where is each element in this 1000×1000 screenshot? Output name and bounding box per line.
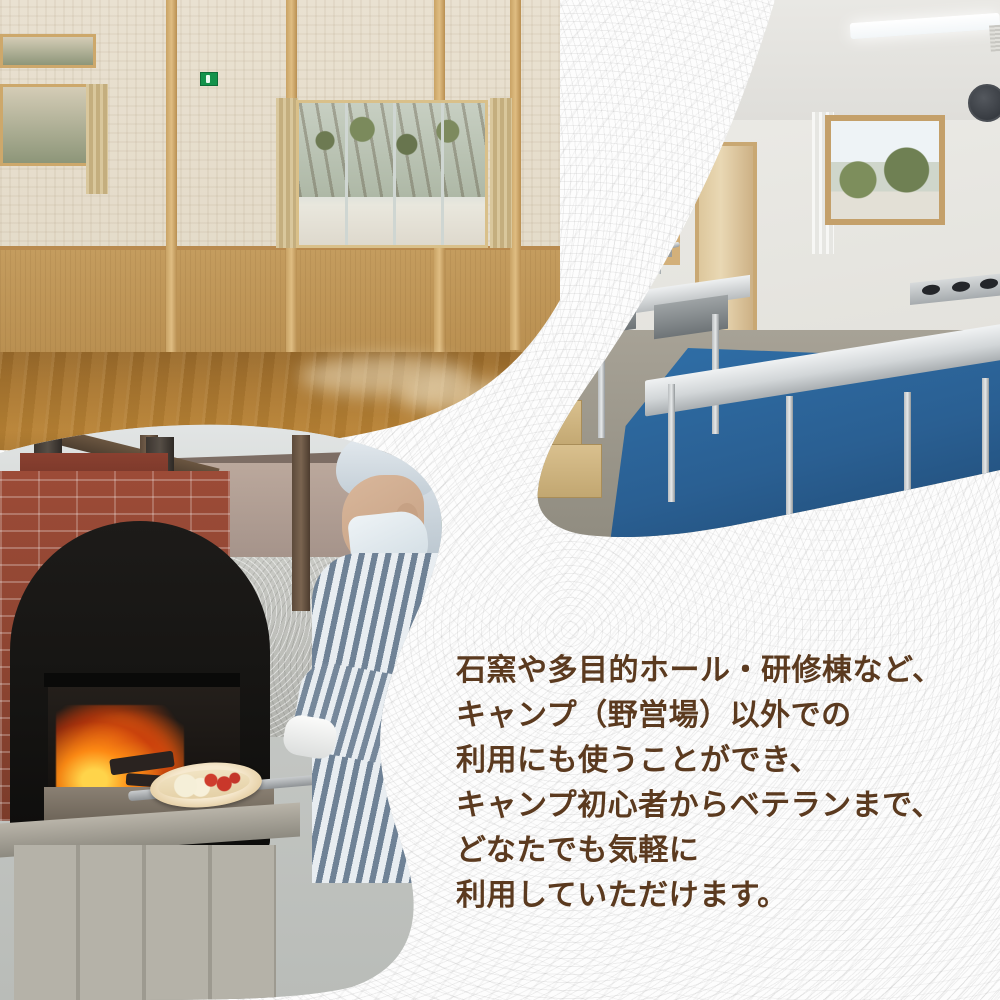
hall-door-curtain-left bbox=[276, 98, 298, 248]
caption-line: 利用にも使うことができ、 bbox=[456, 738, 986, 783]
caption-text-block: 石窯や多目的ホール・研修棟など、 キャンプ（野営場）以外での 利用にも使うことが… bbox=[456, 648, 986, 918]
caption-line: どなたでも気軽に bbox=[456, 828, 986, 873]
hall-post bbox=[166, 0, 177, 356]
door-mullion bbox=[345, 103, 348, 245]
stove-burner bbox=[922, 284, 940, 296]
emergency-exit-sign-icon bbox=[200, 72, 218, 86]
caption-line: 利用していただけます。 bbox=[456, 873, 986, 918]
stove-burner bbox=[980, 278, 998, 290]
ceiling-vent bbox=[989, 22, 1000, 51]
door-mullion bbox=[393, 103, 396, 245]
collage-canvas: 石窯や多目的ホール・研修棟など、 キャンプ（野営場）以外での 利用にも使うことが… bbox=[0, 0, 1000, 1000]
caption-line: 石窯や多目的ホール・研修棟など、 bbox=[456, 648, 986, 693]
hall-sliding-glass-door bbox=[296, 100, 488, 248]
door-mullion bbox=[441, 103, 444, 245]
prep-table-leg bbox=[668, 384, 675, 502]
door-outdoor-view bbox=[299, 103, 485, 197]
hall-transom-window bbox=[0, 34, 96, 68]
hall-door-curtain-right bbox=[490, 98, 512, 248]
oven-lintel bbox=[44, 673, 240, 687]
prep-table-leg bbox=[786, 396, 793, 516]
hall-window bbox=[0, 84, 90, 166]
oven-concrete-block-base bbox=[14, 845, 276, 1000]
pizza-toppings bbox=[157, 766, 251, 802]
caption-line: キャンプ初心者からベテランまで、 bbox=[456, 783, 986, 828]
prep-table-leg bbox=[904, 392, 911, 504]
hall-curtain bbox=[86, 84, 108, 194]
hall-wainscot bbox=[0, 250, 560, 360]
stove-burner bbox=[952, 281, 970, 293]
caption-line: キャンプ（野営場）以外での bbox=[456, 693, 986, 738]
wall-clock-icon bbox=[968, 84, 1000, 122]
prep-table-leg bbox=[982, 378, 989, 484]
kitchen-window bbox=[825, 115, 945, 225]
